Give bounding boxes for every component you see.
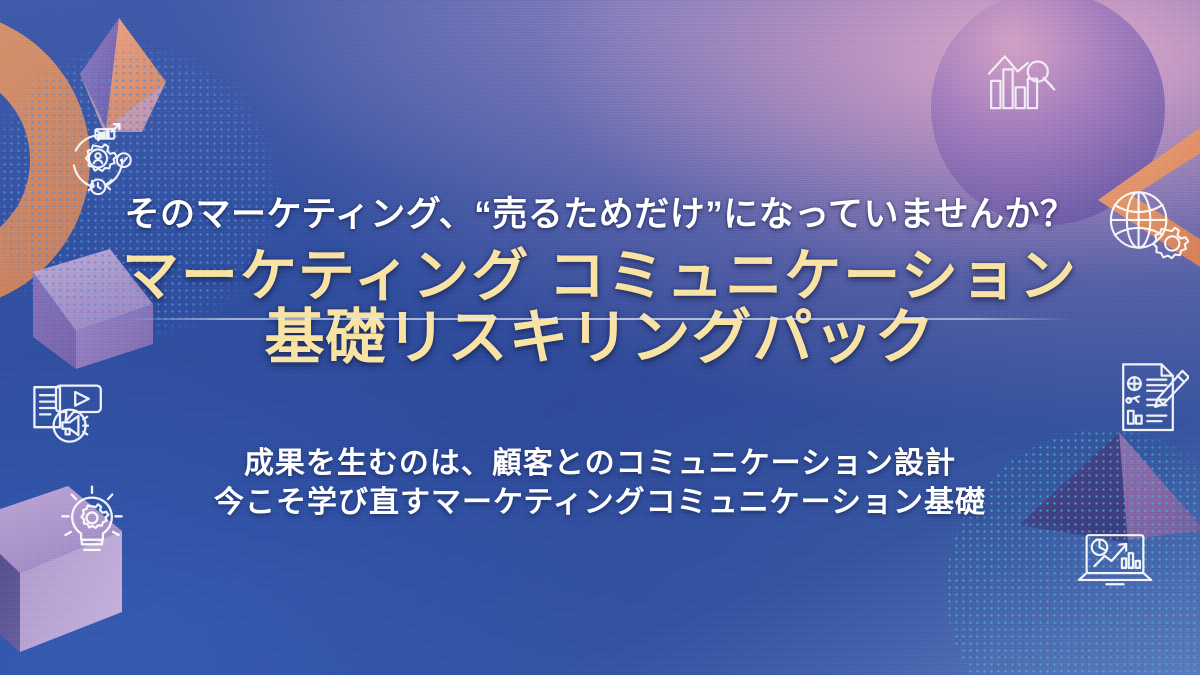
page-title: マーケティング コミュニケーション 基礎リスキリングパック xyxy=(0,246,1200,370)
subtitle-line-2: 今こそ学び直すマーケティングコミュニケーション基礎 xyxy=(0,483,1200,522)
text-content: そのマーケティング、“売るためだけ”になっていませんか？ マーケティング コミュ… xyxy=(0,0,1200,675)
marketing-course-banner: そのマーケティング、“売るためだけ”になっていませんか？ マーケティング コミュ… xyxy=(0,0,1200,675)
title-line-1: マーケティング コミュニケーション xyxy=(0,246,1200,306)
subtitle-block: 成果を生むのは、顧客とのコミュニケーション設計 今こそ学び直すマーケティングコミ… xyxy=(0,444,1200,522)
title-divider xyxy=(130,318,1070,320)
title-line-2: 基礎リスキリングパック xyxy=(0,306,1200,370)
eyebrow-question: そのマーケティング、“売るためだけ”になっていませんか？ xyxy=(0,186,1200,237)
subtitle-line-1: 成果を生むのは、顧客とのコミュニケーション設計 xyxy=(0,444,1200,483)
